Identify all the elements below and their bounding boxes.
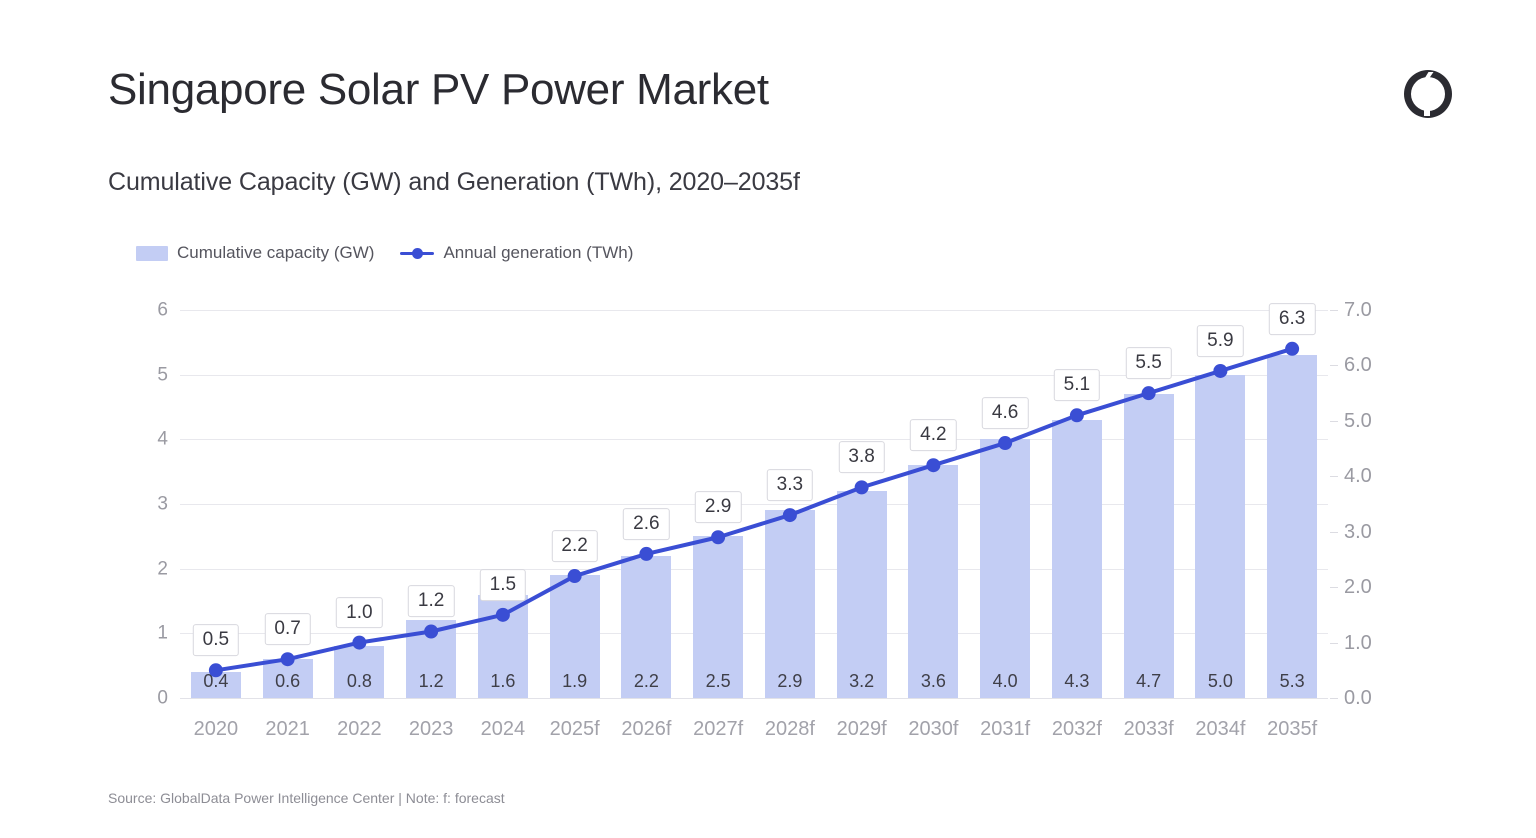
bar-value-label: 1.6 [490, 671, 515, 692]
gridline [180, 698, 1328, 699]
y-axis-left-tick: 1 [157, 624, 168, 643]
x-axis-tick-label: 2032f [1041, 712, 1113, 746]
plot-area: 0.40.60.81.21.61.92.22.52.93.23.64.04.34… [180, 310, 1328, 698]
x-axis-labels: 202020212022202320242025f2026f2027f2028f… [180, 712, 1328, 746]
y-axis-right-tick: 2.0 [1344, 577, 1372, 597]
line-value-label: 3.8 [838, 442, 884, 474]
bar[interactable] [908, 465, 958, 698]
y-axis-left-tick: 5 [157, 365, 168, 384]
chart-header: Singapore Solar PV Power Market [108, 62, 1456, 132]
line-value-label: 2.9 [695, 491, 741, 523]
legend-item-capacity[interactable]: Cumulative capacity (GW) [136, 243, 374, 263]
bar-column[interactable]: 3.6 [898, 310, 970, 698]
y-axis-left: 0123456 [120, 310, 168, 698]
bar-value-label: 2.5 [706, 671, 731, 692]
chart-legend: Cumulative capacity (GW) Annual generati… [136, 240, 633, 266]
legend-bar-swatch-icon [136, 246, 168, 261]
bar-value-label: 1.2 [419, 671, 444, 692]
x-axis-tick-label: 2025f [539, 712, 611, 746]
y-axis-right-tick-dash [1330, 532, 1338, 533]
y-axis-right-tick-dash [1330, 587, 1338, 588]
x-axis-tick-label: 2029f [826, 712, 898, 746]
bar-value-label: 3.2 [849, 671, 874, 692]
bar[interactable] [980, 439, 1030, 698]
line-value-label: 1.5 [480, 569, 526, 601]
bar-column[interactable]: 4.3 [1041, 310, 1113, 698]
line-value-label: 5.5 [1125, 347, 1171, 379]
y-axis-right-tick: 4.0 [1344, 466, 1372, 486]
x-axis-tick-label: 2020 [180, 712, 252, 746]
bar-column[interactable]: 5.0 [1185, 310, 1257, 698]
bar-value-label: 4.7 [1136, 671, 1161, 692]
y-axis-right-tick-dash [1330, 310, 1338, 311]
legend-label-generation: Annual generation (TWh) [443, 243, 633, 263]
legend-item-generation[interactable]: Annual generation (TWh) [400, 243, 633, 263]
y-axis-right-tick-dash [1330, 421, 1338, 422]
y-axis-left-tick: 0 [157, 689, 168, 708]
bar-value-label: 0.4 [203, 671, 228, 692]
x-axis-tick-label: 2031f [969, 712, 1041, 746]
x-axis-tick-label: 2022 [324, 712, 396, 746]
x-axis-tick-label: 2035f [1256, 712, 1328, 746]
y-axis-left-tick: 4 [157, 430, 168, 449]
line-value-label: 1.0 [336, 597, 382, 629]
line-value-label: 6.3 [1269, 303, 1315, 335]
bar-value-label: 5.3 [1280, 671, 1305, 692]
x-axis-tick-label: 2024 [467, 712, 539, 746]
bar[interactable] [1124, 394, 1174, 698]
line-value-label: 1.2 [408, 586, 454, 618]
bar-value-label: 4.0 [993, 671, 1018, 692]
x-axis-tick-label: 2033f [1113, 712, 1185, 746]
page-title: Singapore Solar PV Power Market [108, 62, 1456, 118]
bar-column[interactable]: 1.9 [539, 310, 611, 698]
bar-value-label: 0.6 [275, 671, 300, 692]
bar-column[interactable]: 4.0 [969, 310, 1041, 698]
y-axis-right-tick: 1.0 [1344, 633, 1372, 653]
bar-column[interactable]: 2.2 [611, 310, 683, 698]
line-value-label: 3.3 [767, 469, 813, 501]
legend-label-capacity: Cumulative capacity (GW) [177, 243, 374, 263]
chart-page: Singapore Solar PV Power Market Cumulati… [0, 0, 1536, 838]
bar-column[interactable]: 2.9 [754, 310, 826, 698]
y-axis-right-tick: 5.0 [1344, 411, 1372, 431]
y-axis-right-tick: 6.0 [1344, 355, 1372, 375]
x-axis-tick-label: 2028f [754, 712, 826, 746]
y-axis-right-tick-dash [1330, 698, 1338, 699]
x-axis-tick-label: 2030f [898, 712, 970, 746]
bar[interactable] [1267, 355, 1317, 698]
bar[interactable] [837, 491, 887, 698]
y-axis-left-tick: 3 [157, 495, 168, 514]
x-axis-tick-label: 2026f [611, 712, 683, 746]
bar[interactable] [765, 510, 815, 698]
bar[interactable] [1195, 375, 1245, 698]
line-value-label: 2.2 [551, 530, 597, 562]
y-axis-right-tick: 0.0 [1344, 688, 1372, 708]
bar[interactable] [1052, 420, 1102, 698]
legend-line-marker-icon [400, 246, 434, 260]
y-axis-right: 0.01.02.03.04.05.06.07.0 [1344, 310, 1414, 698]
bar-column[interactable]: 1.6 [467, 310, 539, 698]
bar-value-label: 2.9 [777, 671, 802, 692]
x-axis-tick-label: 2023 [395, 712, 467, 746]
line-value-label: 4.2 [910, 419, 956, 451]
bar-value-label: 0.8 [347, 671, 372, 692]
bar-value-label: 2.2 [634, 671, 659, 692]
line-value-label: 0.5 [193, 624, 239, 656]
line-value-label: 5.1 [1054, 369, 1100, 401]
line-value-label: 2.6 [623, 508, 669, 540]
bar-column[interactable]: 0.8 [324, 310, 396, 698]
bar-column[interactable]: 1.2 [395, 310, 467, 698]
y-axis-right-tick: 7.0 [1344, 300, 1372, 320]
power-bolt-circle-icon [1400, 66, 1456, 122]
bar-value-label: 1.9 [562, 671, 587, 692]
line-value-label: 5.9 [1197, 325, 1243, 357]
y-axis-right-tick-dash [1330, 365, 1338, 366]
line-value-label: 4.6 [982, 397, 1028, 429]
bar-value-label: 4.3 [1064, 671, 1089, 692]
y-axis-right-tick: 3.0 [1344, 522, 1372, 542]
source-note: Source: GlobalData Power Intelligence Ce… [108, 790, 505, 806]
y-axis-right-tick-dash [1330, 643, 1338, 644]
bar-value-label: 5.0 [1208, 671, 1233, 692]
y-axis-right-tick-dash [1330, 476, 1338, 477]
bar-column[interactable]: 3.2 [826, 310, 898, 698]
line-value-label: 0.7 [264, 613, 310, 645]
y-axis-left-tick: 2 [157, 559, 168, 578]
chart-subtitle: Cumulative Capacity (GW) and Generation … [108, 168, 800, 197]
x-axis-tick-label: 2021 [252, 712, 324, 746]
x-axis-tick-label: 2034f [1185, 712, 1257, 746]
bar-column[interactable]: 5.3 [1256, 310, 1328, 698]
x-axis-tick-label: 2027f [682, 712, 754, 746]
y-axis-left-tick: 6 [157, 301, 168, 320]
bar-value-label: 3.6 [921, 671, 946, 692]
